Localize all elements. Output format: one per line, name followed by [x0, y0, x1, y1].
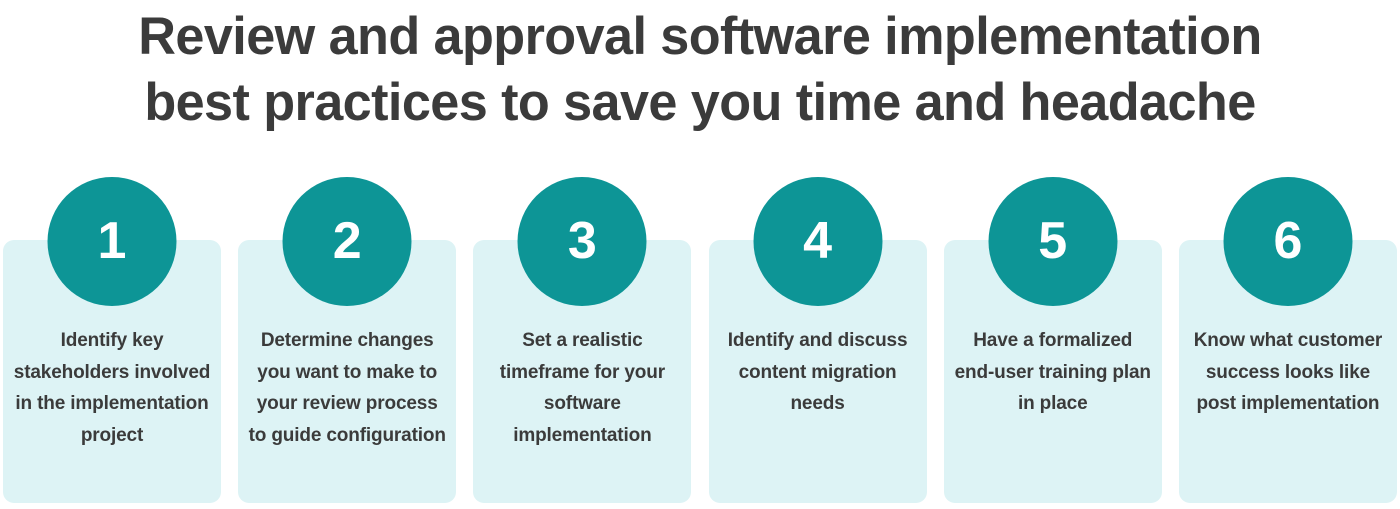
steps-list: 1 Identify key stakeholders involved in … — [3, 177, 1397, 503]
step-card-6: 6 Know what customer success looks like … — [1179, 177, 1397, 503]
step-description: Identify key stakeholders involved in th… — [11, 325, 213, 451]
step-number-label: 6 — [1273, 215, 1302, 267]
step-description: Set a realistic timeframe for your softw… — [481, 325, 683, 451]
step-number-badge: 5 — [988, 177, 1117, 306]
step-number-badge: 4 — [753, 177, 882, 306]
step-number-badge: 6 — [1223, 177, 1352, 306]
page-title-line-1: Review and approval software implementat… — [11, 4, 1390, 70]
step-card-3: 3 Set a realistic timeframe for your sof… — [473, 177, 691, 503]
step-card-1: 1 Identify key stakeholders involved in … — [3, 177, 221, 503]
step-number-label: 1 — [98, 215, 127, 267]
step-description: Know what customer success looks like po… — [1187, 325, 1389, 420]
step-number-label: 2 — [333, 215, 362, 267]
step-number-label: 5 — [1038, 215, 1067, 267]
step-card-5: 5 Have a formalized end-user training pl… — [944, 177, 1162, 503]
infographic-root: Review and approval software implementat… — [0, 0, 1400, 509]
step-card-2: 2 Determine changes you want to make to … — [238, 177, 456, 503]
page-title: Review and approval software implementat… — [0, 4, 1400, 136]
step-card-4: 4 Identify and discuss content migration… — [709, 177, 927, 503]
step-number-label: 3 — [568, 215, 597, 267]
step-number-badge: 2 — [283, 177, 412, 306]
page-title-line-2: best practices to save you time and head… — [11, 70, 1390, 136]
step-number-badge: 1 — [48, 177, 177, 306]
step-description: Identify and discuss content migration n… — [717, 325, 919, 420]
step-number-badge: 3 — [518, 177, 647, 306]
step-number-label: 4 — [803, 215, 832, 267]
step-description: Have a formalized end-user training plan… — [952, 325, 1154, 420]
step-description: Determine changes you want to make to yo… — [246, 325, 448, 451]
